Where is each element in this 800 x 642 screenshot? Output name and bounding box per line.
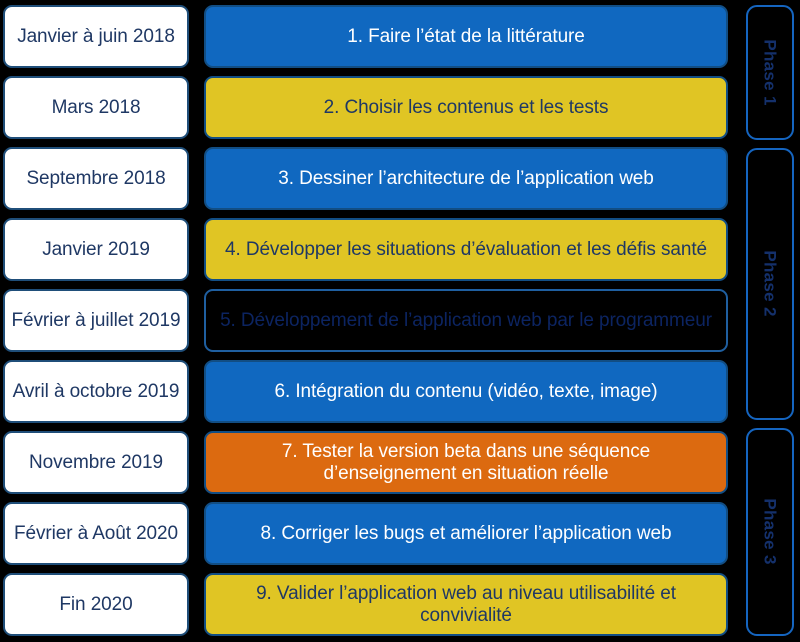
task-label: 3. Dessiner l’architecture de l’applicat…	[278, 168, 654, 189]
date-card-1: Janvier à juin 2018	[3, 5, 189, 68]
phase-label: Phase 2	[760, 251, 779, 317]
date-card-2: Mars 2018	[3, 76, 189, 139]
date-label: Janvier 2019	[42, 239, 150, 260]
date-label: Fin 2020	[59, 594, 132, 615]
date-card-8: Février à Août 2020	[3, 502, 189, 565]
task-label: 8. Corriger les bugs et améliorer l’appl…	[261, 523, 672, 544]
date-label: Janvier à juin 2018	[17, 26, 175, 47]
date-label: Février à Août 2020	[14, 523, 178, 544]
task-label: 1. Faire l’état de la littérature	[347, 26, 585, 47]
phase-label: Phase 1	[760, 39, 779, 105]
phase-bar-2: Phase 2	[746, 148, 794, 420]
task-card-2: 2. Choisir les contenus et les tests	[204, 76, 728, 139]
task-label: 2. Choisir les contenus et les tests	[324, 97, 609, 118]
date-label: Septembre 2018	[26, 168, 165, 189]
task-label: 4. Développer les situations d’évaluatio…	[225, 239, 707, 260]
date-label: Avril à octobre 2019	[13, 381, 180, 402]
task-card-8: 8. Corriger les bugs et améliorer l’appl…	[204, 502, 728, 565]
task-card-5: 5. Développement de l’application web pa…	[204, 289, 728, 352]
task-label: 7. Tester la version beta dans une séque…	[218, 441, 714, 484]
project-timeline-diagram: Janvier à juin 2018 Mars 2018 Septembre …	[0, 0, 800, 642]
date-card-3: Septembre 2018	[3, 147, 189, 210]
task-label: 6. Intégration du contenu (vidéo, texte,…	[275, 381, 658, 402]
date-card-4: Janvier 2019	[3, 218, 189, 281]
task-card-4: 4. Développer les situations d’évaluatio…	[204, 218, 728, 281]
task-card-3: 3. Dessiner l’architecture de l’applicat…	[204, 147, 728, 210]
phase-bar-3: Phase 3	[746, 428, 794, 636]
date-label: Février à juillet 2019	[12, 310, 181, 331]
date-label: Novembre 2019	[29, 452, 163, 473]
task-label: 5. Développement de l’application web pa…	[220, 310, 712, 331]
task-label: 9. Valider l’application web au niveau u…	[218, 583, 714, 626]
date-card-5: Février à juillet 2019	[3, 289, 189, 352]
phase-bar-1: Phase 1	[746, 5, 794, 140]
task-card-7: 7. Tester la version beta dans une séque…	[204, 431, 728, 494]
date-card-7: Novembre 2019	[3, 431, 189, 494]
task-card-9: 9. Valider l’application web au niveau u…	[204, 573, 728, 636]
date-label: Mars 2018	[52, 97, 141, 118]
date-card-6: Avril à octobre 2019	[3, 360, 189, 423]
task-card-6: 6. Intégration du contenu (vidéo, texte,…	[204, 360, 728, 423]
date-card-9: Fin 2020	[3, 573, 189, 636]
phase-label: Phase 3	[760, 499, 779, 565]
task-card-1: 1. Faire l’état de la littérature	[204, 5, 728, 68]
